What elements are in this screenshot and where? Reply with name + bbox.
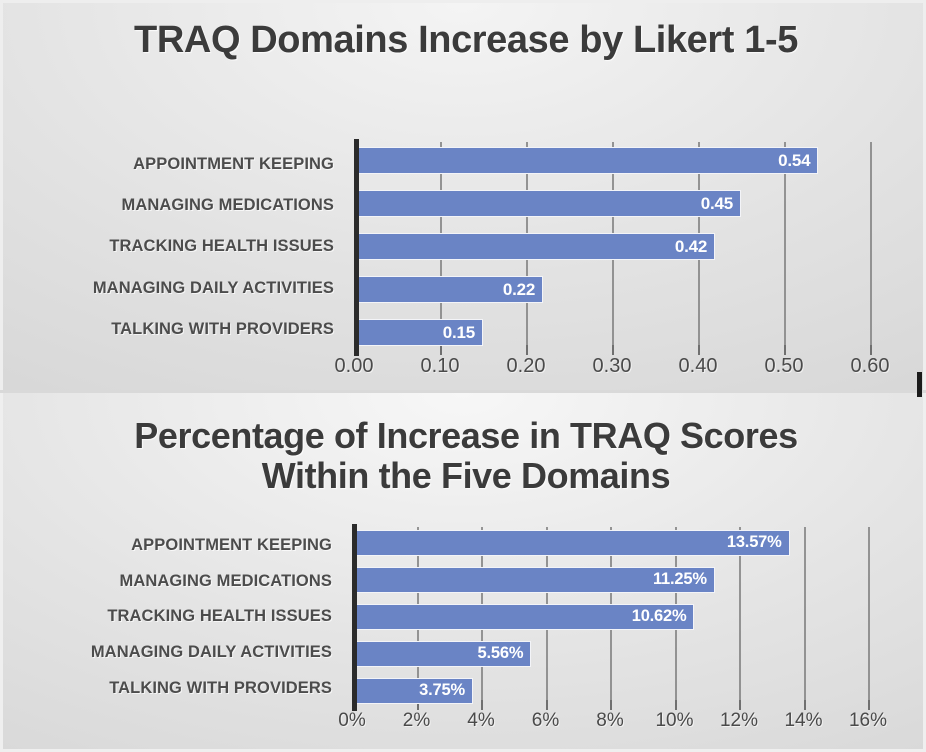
axis-tick-label: 0% <box>338 710 365 732</box>
plot-area-percentage: APPOINTMENT KEEPING MANAGING MEDICATIONS… <box>0 524 926 709</box>
axis-tick-label: 0.10 <box>421 355 460 378</box>
bar-row[interactable]: 13.57% <box>352 530 892 556</box>
bar-tracking-health-issues[interactable]: 10.62% <box>352 604 694 630</box>
axis-tick-label: 0.00 <box>335 355 374 378</box>
bar-data-label: 0.42 <box>675 237 714 257</box>
value-axis-labels-percentage: 0%2%4%6%8%10%12%14%16% <box>352 710 892 736</box>
category-label: TALKING WITH PROVIDERS <box>0 679 332 698</box>
chart-title-percentage: Percentage of Increase in TRAQ Scores Wi… <box>3 416 926 497</box>
edge-marker <box>917 372 922 397</box>
axis-tick-label: 0.60 <box>851 355 890 378</box>
bar-talking-with-providers[interactable]: 0.15 <box>354 319 483 346</box>
axis-tick-label: 0.30 <box>593 355 632 378</box>
category-label: MANAGING DAILY ACTIVITIES <box>3 279 334 298</box>
value-axis-line-likert <box>354 139 359 356</box>
axis-tick-label: 0.50 <box>765 355 804 378</box>
axis-tick-label: 2% <box>403 710 430 732</box>
bar-row[interactable]: 0.54 <box>354 147 894 174</box>
bar-talking-with-providers[interactable]: 3.75% <box>352 678 473 704</box>
category-axis-likert: APPOINTMENT KEEPING MANAGING MEDICATIONS… <box>3 139 344 354</box>
bar-row[interactable]: 0.22 <box>354 276 894 303</box>
bars-container-likert: 0.54 0.45 0.42 <box>354 139 894 354</box>
axis-tick-label: 4% <box>467 710 494 732</box>
bar-row[interactable]: 3.75% <box>352 678 892 704</box>
bar-data-label: 3.75% <box>419 681 472 700</box>
chart-title-likert: TRAQ Domains Increase by Likert 1-5 <box>3 19 926 62</box>
axis-tick-label: 16% <box>849 710 887 732</box>
bar-row[interactable]: 0.45 <box>354 190 894 217</box>
bar-row[interactable]: 0.15 <box>354 319 894 346</box>
category-label: MANAGING DAILY ACTIVITIES <box>0 643 332 662</box>
value-axis-labels-likert: 0.000.100.200.300.400.500.60 <box>354 355 894 381</box>
category-label: TRACKING HEALTH ISSUES <box>3 237 334 256</box>
category-label: TRACKING HEALTH ISSUES <box>0 607 332 626</box>
bar-row[interactable]: 0.42 <box>354 233 894 260</box>
bar-row[interactable]: 11.25% <box>352 567 892 593</box>
bar-appointment-keeping[interactable]: 13.57% <box>352 530 790 556</box>
category-label: APPOINTMENT KEEPING <box>3 155 334 174</box>
axis-tick-label: 0.40 <box>679 355 718 378</box>
category-label: TALKING WITH PROVIDERS <box>3 320 334 339</box>
category-label: MANAGING MEDICATIONS <box>3 196 334 215</box>
bar-data-label: 10.62% <box>632 607 694 626</box>
axis-tick-label: 10% <box>655 710 693 732</box>
bar-tracking-health-issues[interactable]: 0.42 <box>354 233 715 260</box>
axis-tick-label: 8% <box>596 710 623 732</box>
axis-tick-label: 12% <box>720 710 758 732</box>
bar-row[interactable]: 5.56% <box>352 641 892 667</box>
bars-container-percentage: 13.57% 11.25% 10.62% 5.56% <box>352 524 892 709</box>
bar-managing-medications[interactable]: 11.25% <box>352 567 715 593</box>
bar-data-label: 5.56% <box>478 644 531 663</box>
bar-data-label: 0.15 <box>443 323 482 343</box>
bar-series-likert: 0.54 0.45 0.42 <box>354 139 894 354</box>
axis-tick-label: 0.20 <box>507 355 546 378</box>
chart-panel-likert: TRAQ Domains Increase by Likert 1-5 APPO… <box>0 0 926 390</box>
bar-row[interactable]: 10.62% <box>352 604 892 630</box>
bar-data-label: 0.22 <box>503 280 542 300</box>
bar-managing-medications[interactable]: 0.45 <box>354 190 741 217</box>
bar-appointment-keeping[interactable]: 0.54 <box>354 147 818 174</box>
value-axis-line-percentage <box>352 524 357 711</box>
axis-tick-label: 6% <box>532 710 559 732</box>
category-axis-percentage: APPOINTMENT KEEPING MANAGING MEDICATIONS… <box>0 524 342 709</box>
bar-managing-daily-activities[interactable]: 5.56% <box>352 641 531 667</box>
slide-canvas: TRAQ Domains Increase by Likert 1-5 APPO… <box>0 0 926 752</box>
bar-managing-daily-activities[interactable]: 0.22 <box>354 276 543 303</box>
bar-data-label: 0.54 <box>778 151 817 171</box>
category-label: MANAGING MEDICATIONS <box>0 572 332 591</box>
category-label: APPOINTMENT KEEPING <box>0 536 332 555</box>
bar-data-label: 11.25% <box>653 570 714 589</box>
plot-area-likert: APPOINTMENT KEEPING MANAGING MEDICATIONS… <box>3 139 926 354</box>
bar-data-label: 13.57% <box>727 533 789 552</box>
bar-data-label: 0.45 <box>701 194 740 214</box>
axis-tick-label: 14% <box>784 710 822 732</box>
bar-series-percentage: 13.57% 11.25% 10.62% 5.56% <box>352 524 892 709</box>
